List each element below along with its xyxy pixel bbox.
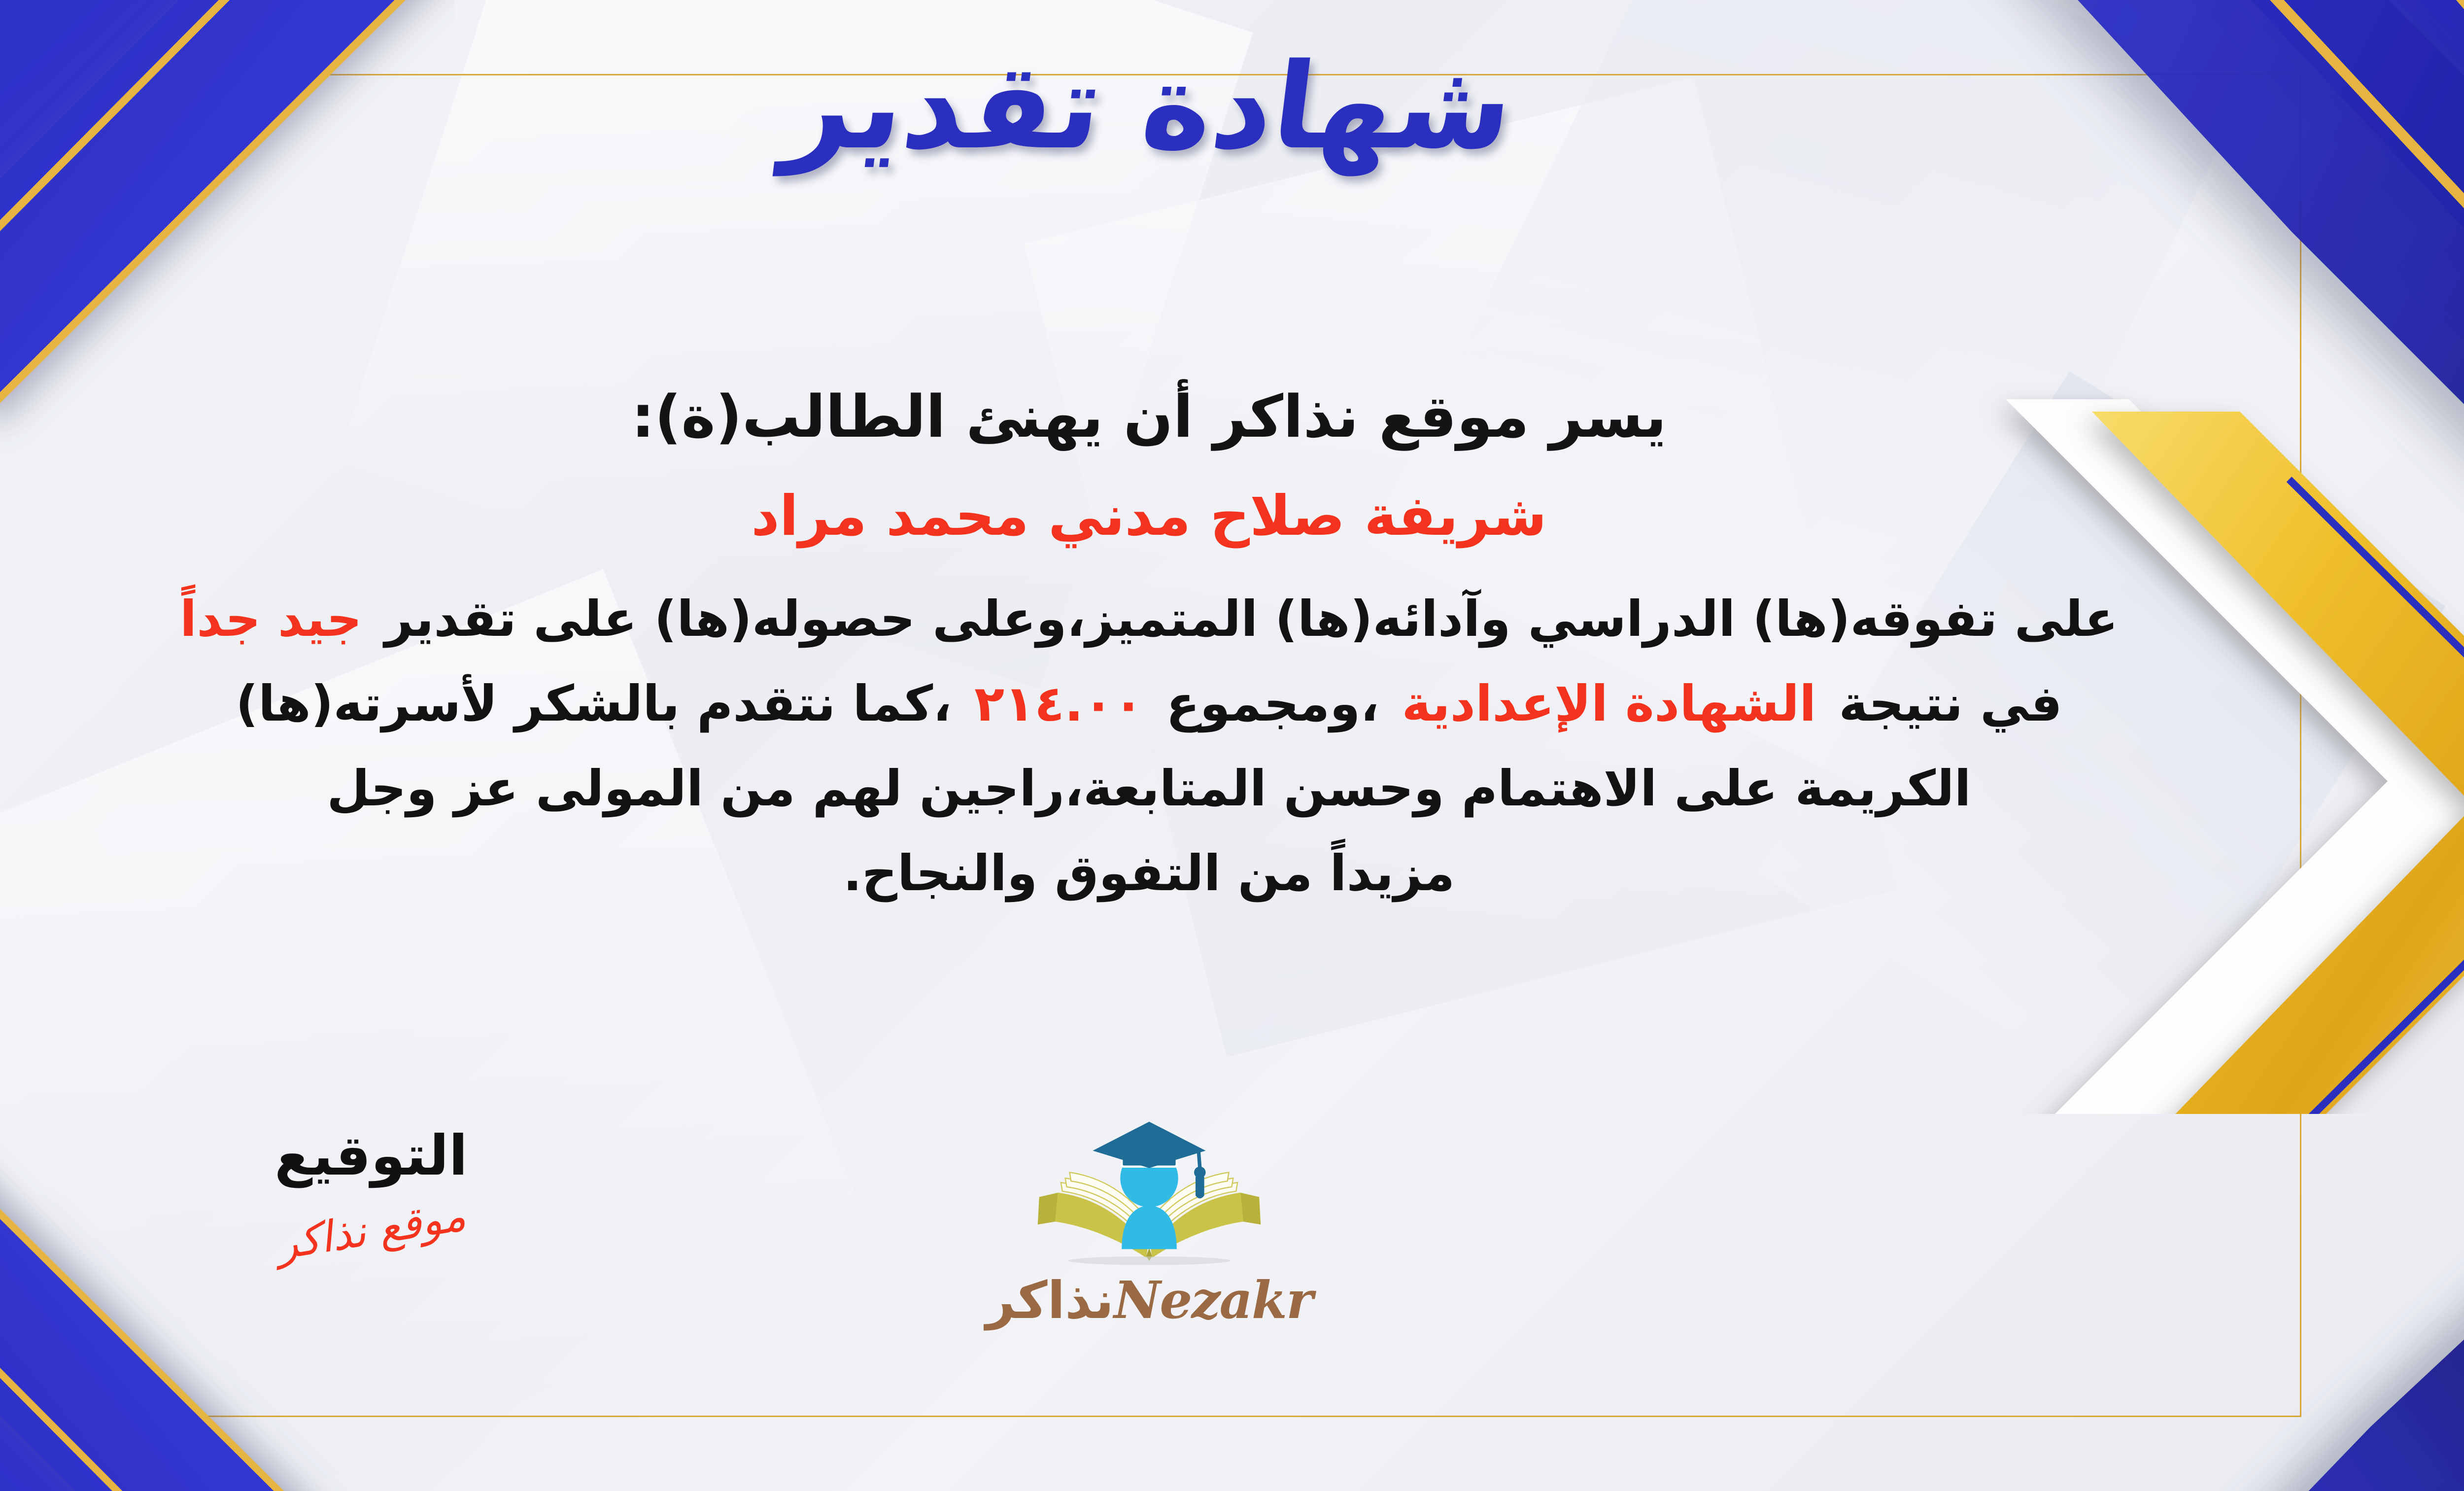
body-line3: الكريمة على الاهتمام وحسن المتابعة،راجين… [327,760,1971,817]
exam-name: الشهادة الإعدادية [1402,675,1816,732]
total-score: ٢١٤.٠٠ [974,675,1143,732]
logo-wordmark-latin: Nezakr [1114,1270,1312,1330]
thanks-text: ،كما نتقدم بالشكر لأسرته(ها) [236,675,952,732]
body-line4: مزيداً من التفوق والنجاح. [843,844,1455,902]
body-paragraph: على تفوقه(ها) الدراسي وآدائه(ها) المتميز… [41,577,2257,916]
student-name: شريفة صلاح مدني محمد مراد [41,478,2257,555]
grade-value: جيد جداً [180,590,362,648]
total-prefix: ،ومجموع [1166,675,1379,732]
certificate-body: يسر موقع نذاكر أن يهنئ الطالب(ة): شريفة … [41,375,2257,916]
brand-logo: Nezakrنذاكر [0,1104,2464,1330]
page-title: شهادة تقدير [778,44,1520,169]
intro-line: يسر موقع نذاكر أن يهنئ الطالب(ة): [41,375,2257,459]
result-prefix: في نتيجة [1839,675,2062,732]
logo-wordmark: Nezakrنذاكر [986,1270,1312,1330]
title-container: شهادة تقدير [0,44,2464,169]
certificate-canvas: شهادة تقدير يسر موقع نذاكر أن يهنئ الطال… [0,0,2464,1491]
logo-wordmark-arabic: نذاكر [986,1270,1114,1330]
achievement-text-line1: على تفوقه(ها) الدراسي وآدائه(ها) المتميز… [385,590,2118,648]
graduate-book-icon [1033,1104,1265,1267]
